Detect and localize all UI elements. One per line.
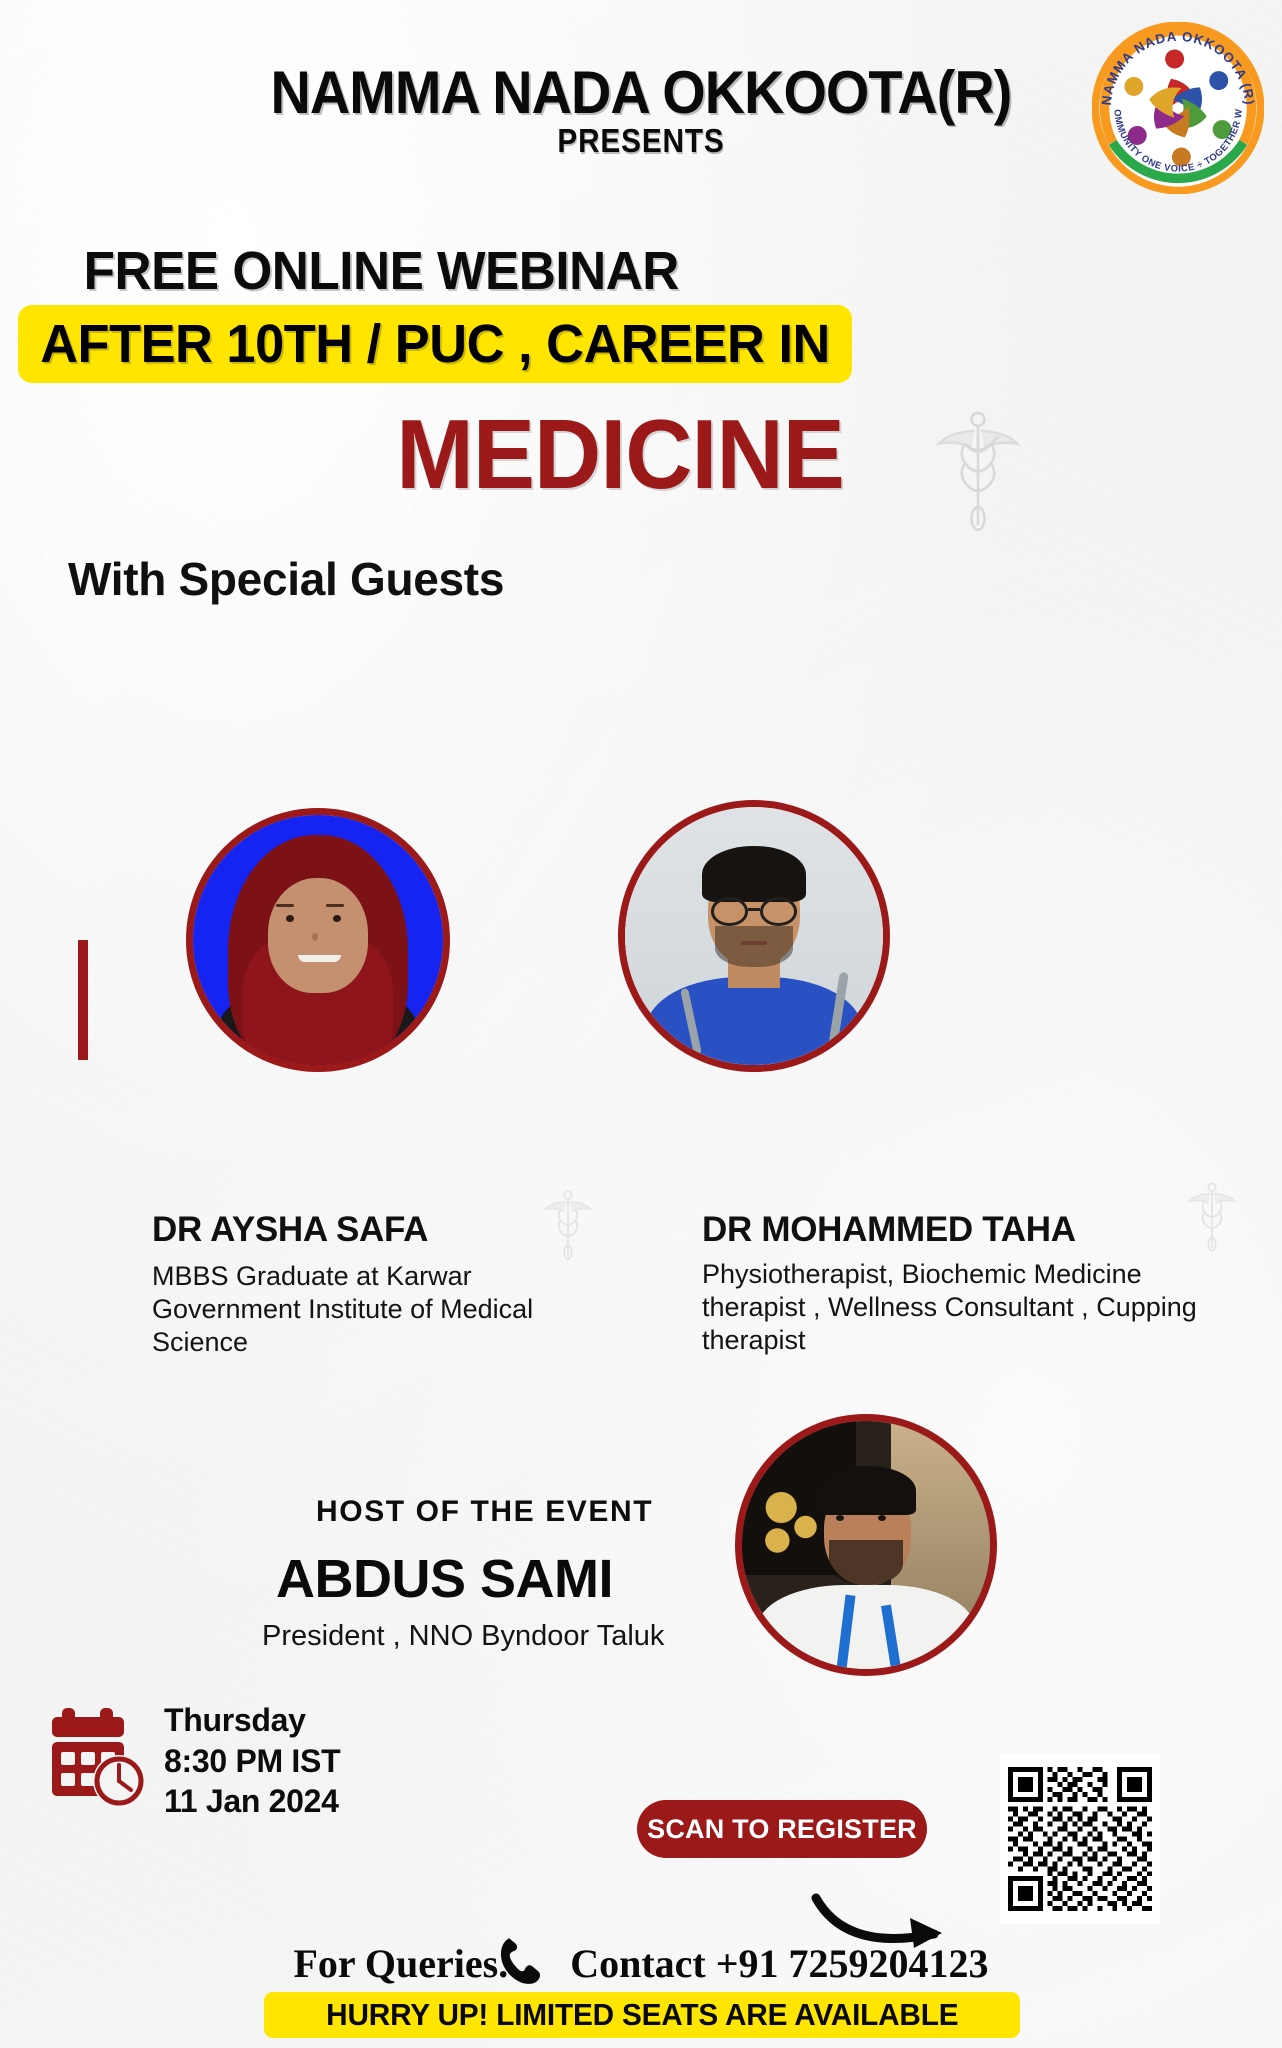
webinar-headline: FREE ONLINE WEBINAR [84,240,679,302]
guest-description-aysha-safa: MBBS Graduate at Karwar Government Insti… [152,1260,612,1359]
queries-prefix: For Queries. [293,1941,508,1986]
guest-name-mohammed-taha: DR MOHAMMED TAHA [702,1210,1076,1250]
caduceus-icon-small-aysha [540,1186,596,1266]
schedule-time: 8:30 PM IST [164,1741,340,1782]
special-guests-heading: With Special Guests [68,552,504,606]
host-role: President , NNO Byndoor Taluk [262,1620,664,1653]
schedule-block: Thursday 8:30 PM IST 11 Jan 2024 [164,1700,340,1822]
urgency-banner: HURRY UP! LIMITED SEATS ARE AVAILABLE [264,1992,1020,2038]
topic-banner-label: AFTER 10TH / PUC , CAREER IN [40,313,830,375]
organization-logo-icon: NAMMA NADA OKKOOTA (R) ONE COMMUNITY ONE… [1092,22,1264,194]
queries-line: For Queries.Contact +91 7259204123 [0,1940,1282,1987]
red-accent-bar [78,940,88,1060]
scan-to-register-label: SCAN TO REGISTER [647,1814,917,1845]
schedule-date: 11 Jan 2024 [164,1781,340,1822]
topic-banner: AFTER 10TH / PUC , CAREER IN [18,305,852,383]
guest-name-aysha-safa: DR AYSHA SAFA [152,1210,428,1250]
webinar-poster: NAMMA NADA OKKOOTA(R) PRESENTS N [0,0,1282,2048]
guest-description-mohammed-taha: Physiotherapist, Biochemic Medicine ther… [702,1258,1247,1357]
topic-main-title: MEDICINE [11,398,1229,511]
registration-qr-code[interactable] [1000,1754,1160,1924]
organization-title: NAMMA NADA OKKOOTA(R) [45,58,1237,127]
urgency-banner-label: HURRY UP! LIMITED SEATS ARE AVAILABLE [326,1997,958,2033]
calendar-clock-icon [48,1700,158,1810]
guest-photo-mohammed-taha [618,800,890,1072]
host-label: HOST OF THE EVENT [316,1495,653,1529]
telephone-icon [498,1936,546,1988]
guest-photo-aysha-safa [186,808,450,1072]
host-photo-abdus-sami [735,1414,997,1676]
scan-to-register-button[interactable]: SCAN TO REGISTER [637,1800,927,1858]
presents-label: PRESENTS [64,122,1218,160]
caduceus-icon [918,408,1038,538]
host-name: ABDUS SAMI [276,1548,613,1610]
caduceus-icon-small-taha [1184,1178,1240,1258]
contact-text: Contact +91 7259204123 [570,1941,988,1986]
schedule-day: Thursday [164,1700,340,1741]
